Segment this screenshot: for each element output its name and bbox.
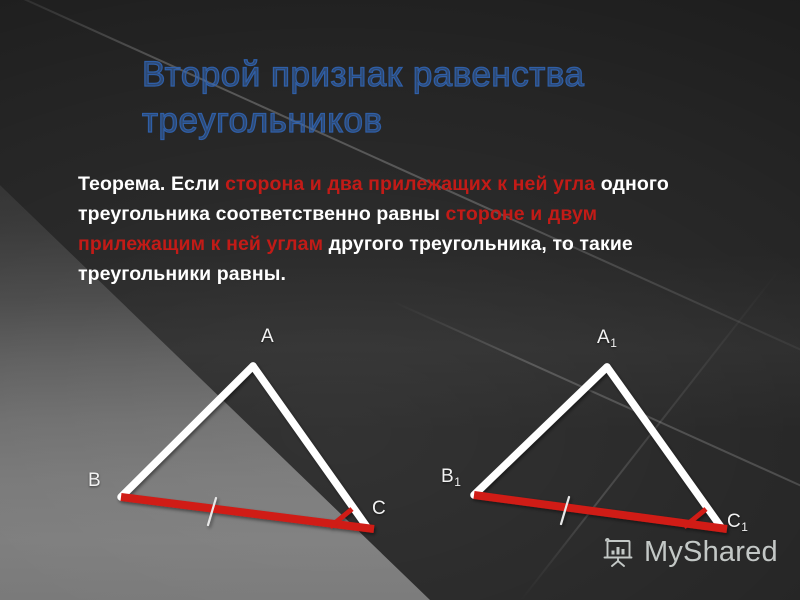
watermark-text: MyShared [644, 536, 778, 569]
vertex-label-b1-subscript: 1 [454, 475, 461, 489]
vertex-label-b1: B1 [441, 466, 460, 488]
triangle-a1b1c1 [474, 367, 727, 529]
vertex-label-c1-subscript: 1 [741, 520, 748, 534]
vertex-label-c-text: C [372, 498, 386, 519]
vertex-label-b1-text: B [441, 466, 454, 487]
segment-a1c1 [607, 367, 721, 527]
triangle-abc [121, 366, 374, 529]
vertex-label-c1: C1 [727, 511, 747, 533]
vertex-label-b: B [88, 470, 101, 492]
segment-ab [121, 366, 253, 497]
vertex-label-a1-subscript: 1 [610, 336, 617, 350]
vertex-label-c1-text: C [727, 511, 741, 532]
watermark: MyShared [601, 536, 778, 569]
vertex-label-a-text: A [261, 326, 274, 347]
presentation-chart-icon [601, 537, 635, 569]
slide-canvas: Второй признак равенства треугольников Т… [0, 0, 800, 600]
vertex-label-b-text: B [88, 470, 101, 491]
vertex-label-c: C [372, 498, 386, 520]
vertex-label-a: A [261, 326, 274, 348]
segment-ac [253, 366, 367, 527]
vertex-label-a1: A1 [597, 327, 616, 349]
vertex-label-a1-text: A [597, 327, 610, 348]
segment-a1b1 [474, 367, 607, 495]
triangles-diagram [0, 0, 800, 600]
